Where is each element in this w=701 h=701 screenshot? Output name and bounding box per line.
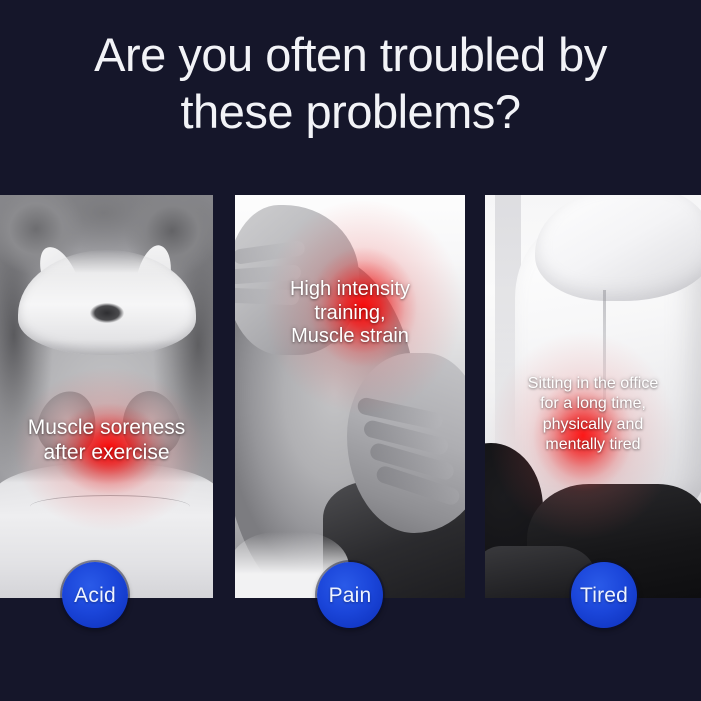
- panel-muscle-strain[interactable]: High intensity training, Muscle strain: [235, 195, 465, 598]
- panel-2-caption: High intensity training, Muscle strain: [235, 278, 465, 349]
- badge-tired[interactable]: Tired: [571, 562, 637, 628]
- panel-strip: Muscle soreness after exercise: [0, 195, 701, 598]
- panel-3-caption: Sitting in the office for a long time, p…: [485, 374, 701, 456]
- badge-acid-label: Acid: [74, 585, 116, 606]
- page-title: Are you often troubled by these problems…: [0, 26, 701, 141]
- panel-1-caption: Muscle soreness after exercise: [0, 416, 213, 466]
- panel-2-photo: [235, 195, 465, 598]
- promo-poster: Are you often troubled by these problems…: [0, 0, 701, 701]
- raised-arm-shape: [535, 195, 701, 301]
- badge-acid[interactable]: Acid: [62, 562, 128, 628]
- panel-muscle-soreness[interactable]: Muscle soreness after exercise: [0, 195, 213, 598]
- panel-office-fatigue[interactable]: Sitting in the office for a long time, p…: [485, 195, 701, 598]
- badge-pain[interactable]: Pain: [317, 562, 383, 628]
- panel-1-photo: [0, 195, 213, 598]
- badge-tired-label: Tired: [580, 585, 628, 606]
- badge-pain-label: Pain: [329, 585, 372, 606]
